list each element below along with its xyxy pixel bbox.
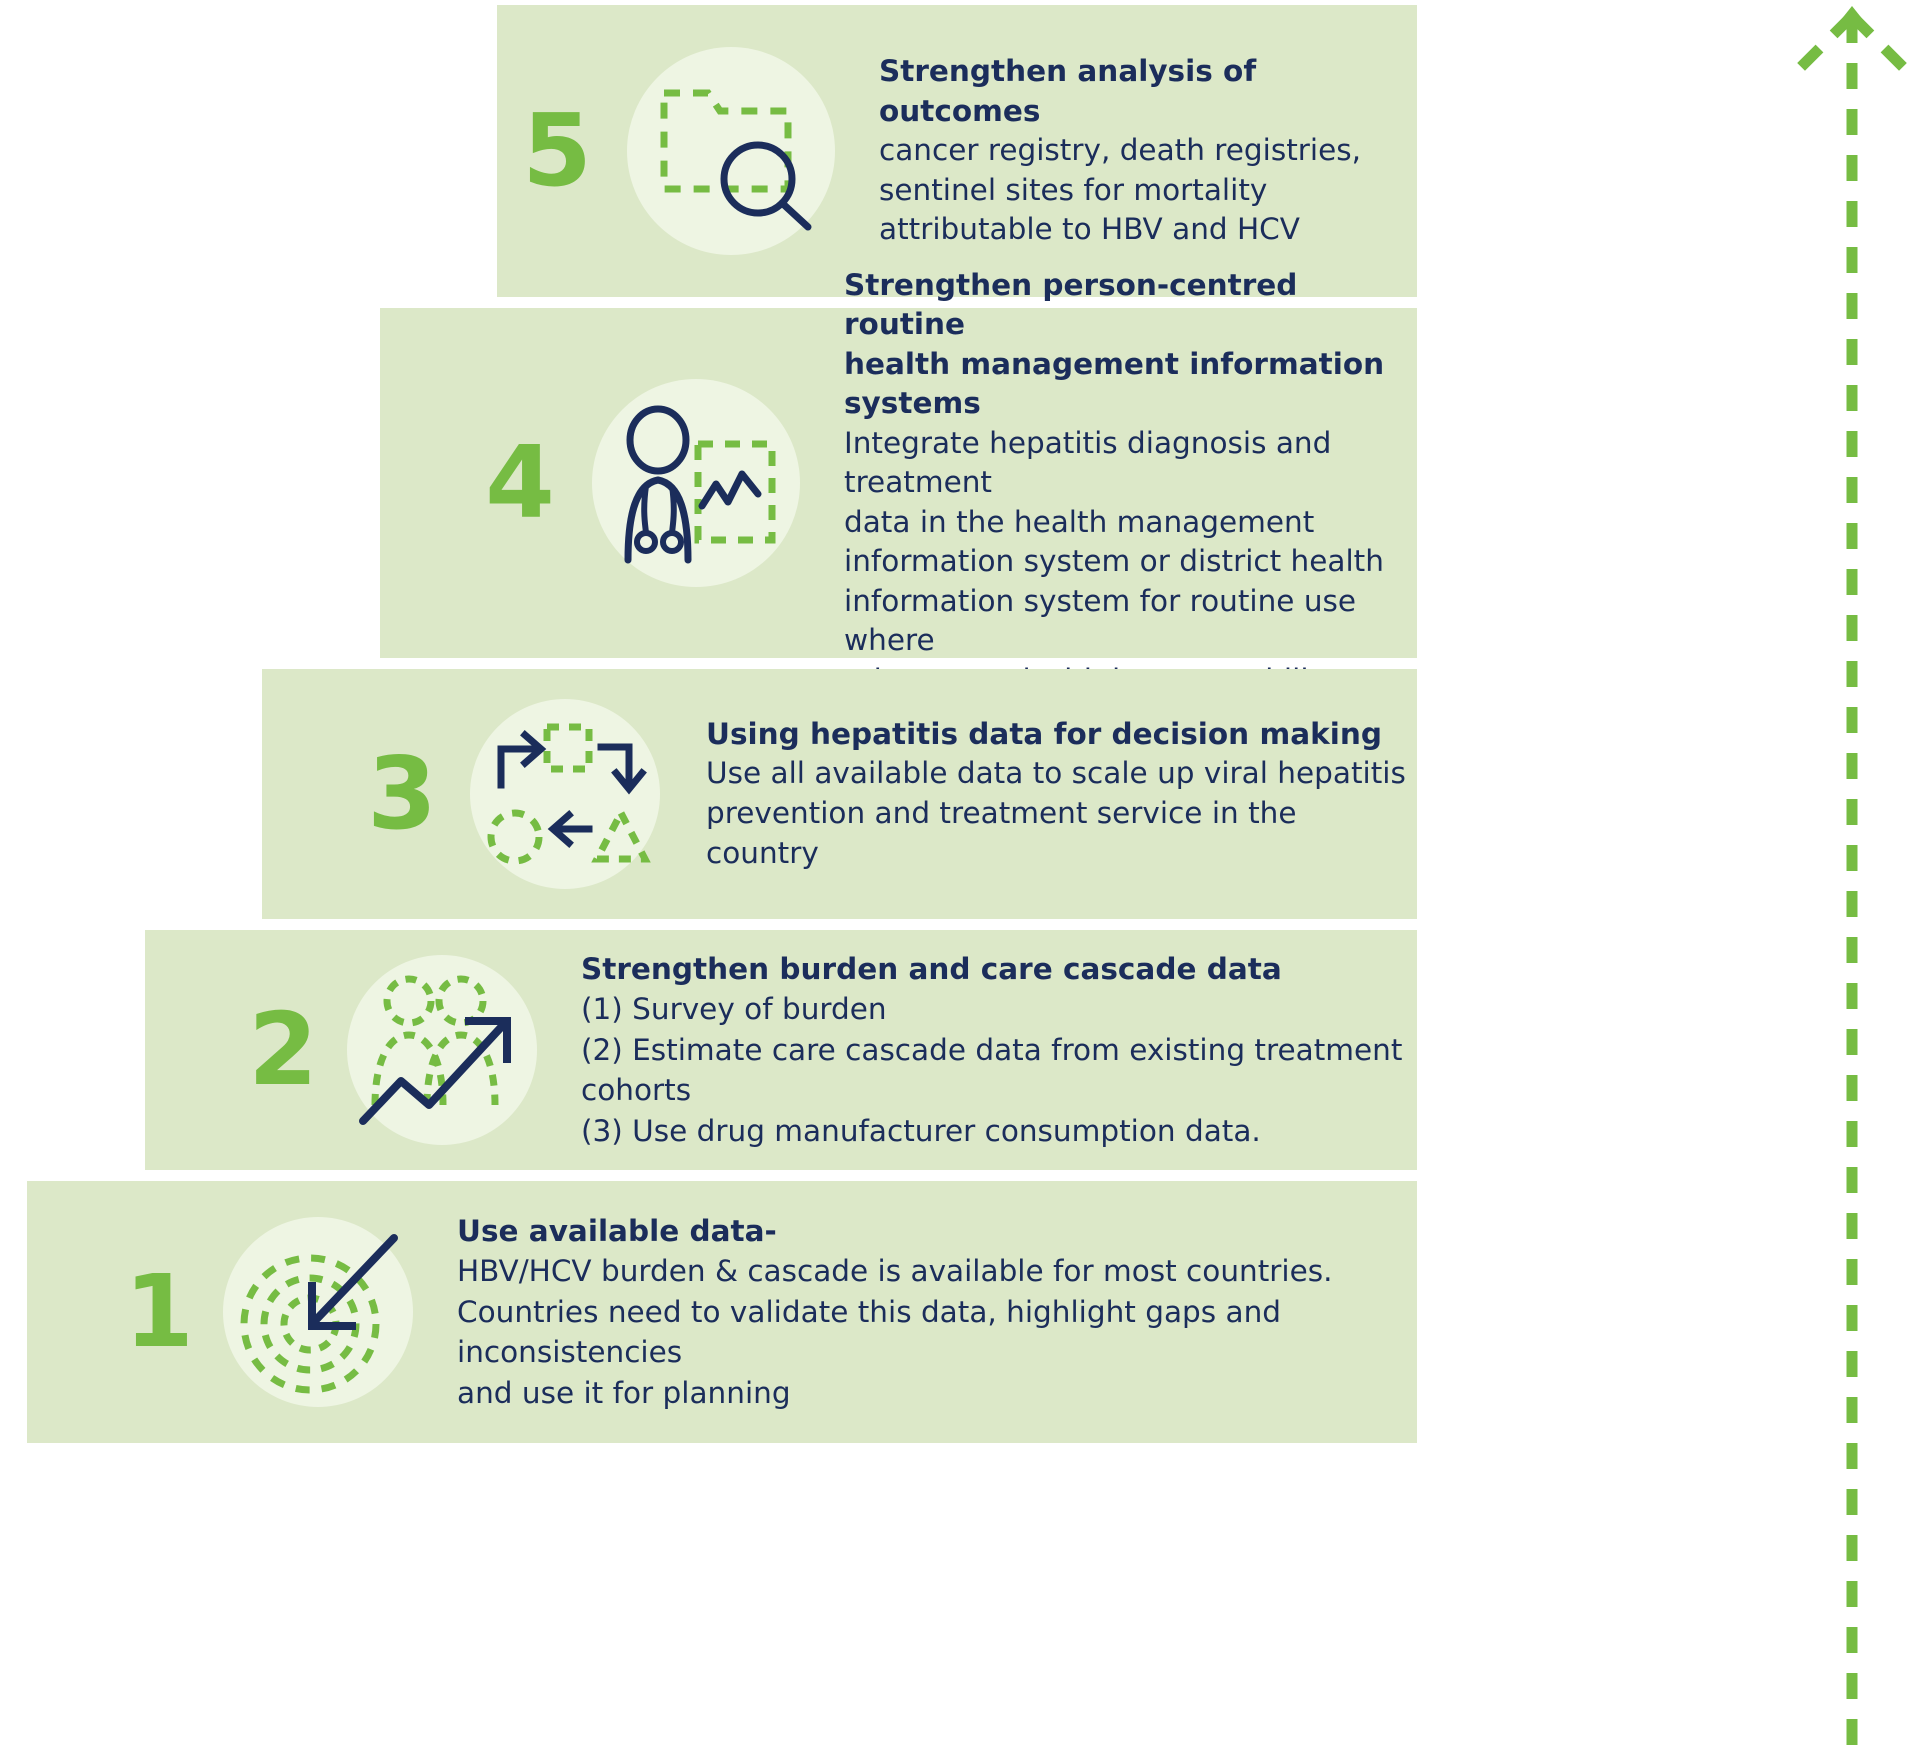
step-3-number: 3 — [342, 744, 462, 844]
step-3-body-line-1: Use all available data to scale up viral… — [706, 754, 1417, 794]
step-1-heading: Use available data- — [457, 1211, 1417, 1251]
step-5-body-line-3: attributable to HBV and HCV — [879, 210, 1417, 250]
step-4-body-line-3: information system or district health — [844, 542, 1417, 582]
clinician-chart-icon — [592, 379, 800, 587]
step-1-number: 1 — [99, 1262, 219, 1362]
step-3: 3 Using hepatitis data for dec — [262, 669, 1417, 919]
step-5-text: Strengthen analysis of outcomes cancer r… — [879, 52, 1417, 250]
step-1-body-line-1: HBV/HCV burden & cascade is available fo… — [457, 1251, 1417, 1291]
step-4-heading-line-2: health management information systems — [844, 345, 1417, 424]
folder-magnifier-icon — [627, 47, 835, 255]
step-2-body-line-2: (2) Estimate care cascade data from exis… — [581, 1030, 1417, 1111]
step-5-body-line-1: cancer registry, death registries, — [879, 131, 1417, 171]
dashed-up-arrow-icon — [1792, 0, 1912, 1745]
step-3-heading: Using hepatitis data for decision making — [706, 715, 1417, 755]
step-1-text: Use available data- HBV/HCV burden & cas… — [457, 1211, 1417, 1413]
step-2: 2 Strengthen burden and care cascade dat… — [145, 930, 1417, 1170]
step-5-heading: Strengthen analysis of outcomes — [879, 52, 1417, 131]
step-5-number: 5 — [497, 101, 617, 201]
step-2-body-line-3: (3) Use drug manufacturer consumption da… — [581, 1111, 1417, 1151]
step-2-text: Strengthen burden and care cascade data … — [581, 949, 1417, 1151]
step-4-body-line-4: information system for routine use where — [844, 582, 1417, 661]
step-5-body-line-2: sentinel sites for mortality — [879, 171, 1417, 211]
step-1: 1 Use available data- HBV/HCV burden & c… — [27, 1181, 1417, 1443]
step-4-text: Strengthen person-centred routine health… — [844, 266, 1417, 701]
step-1-body-line-2: Countries need to validate this data, hi… — [457, 1292, 1417, 1373]
step-4: 4 Strengthen person-centred routine heal… — [380, 308, 1417, 658]
step-4-heading-line-1: Strengthen person-centred routine — [844, 266, 1417, 345]
target-arrow-icon — [223, 1217, 413, 1407]
step-2-body-line-1: (1) Survey of burden — [581, 989, 1417, 1029]
infographic-stage: 5 Strengthen analysis of outcomes cancer… — [0, 0, 1920, 1753]
step-4-body-line-1: Integrate hepatitis diagnosis and treatm… — [844, 424, 1417, 503]
people-trend-arrow-icon — [347, 955, 537, 1145]
step-4-number: 4 — [460, 433, 580, 533]
step-2-heading: Strengthen burden and care cascade data — [581, 949, 1417, 989]
step-5: 5 Strengthen analysis of outcomes cancer… — [497, 5, 1417, 297]
step-1-body-line-3: and use it for planning — [457, 1373, 1417, 1413]
cycle-arrows-shapes-icon — [470, 699, 660, 889]
step-4-body-line-2: data in the health management — [844, 503, 1417, 543]
step-2-number: 2 — [223, 1000, 343, 1100]
step-3-text: Using hepatitis data for decision making… — [706, 715, 1417, 873]
step-3-body-line-2: prevention and treatment service in the … — [706, 794, 1417, 873]
